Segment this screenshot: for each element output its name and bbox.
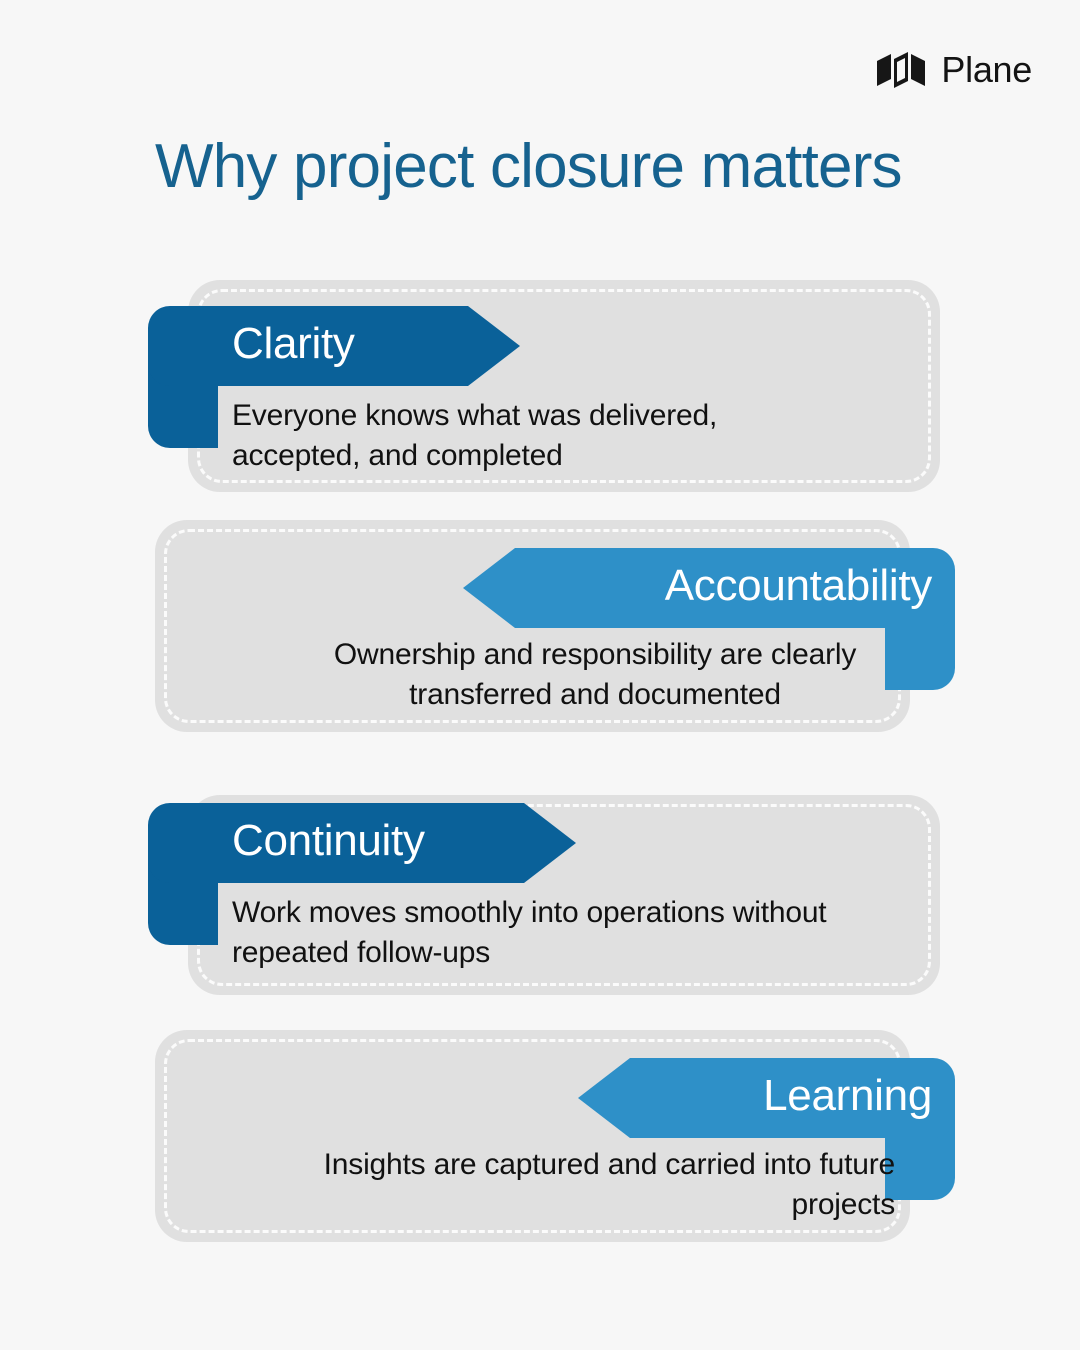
card-label-continuity: Continuity [232,819,425,863]
card-label-learning: Learning [763,1074,932,1118]
infographic-page: Plane Why project closure matters Clarit… [0,0,1080,1350]
card-body-continuity: Work moves smoothly into operations with… [232,893,852,973]
card-body-clarity: Everyone knows what was delivered, accep… [232,396,852,476]
brand-lockup: Plane [875,52,1032,88]
page-title: Why project closure matters [155,134,902,201]
brand-name: Plane [941,52,1032,88]
plane-logo-icon [875,52,927,88]
card-label-clarity: Clarity [232,322,355,366]
card-label-accountability: Accountability [665,564,932,608]
card-body-accountability: Ownership and responsibility are clearly… [285,635,905,715]
card-body-learning: Insights are captured and carried into f… [275,1145,895,1225]
